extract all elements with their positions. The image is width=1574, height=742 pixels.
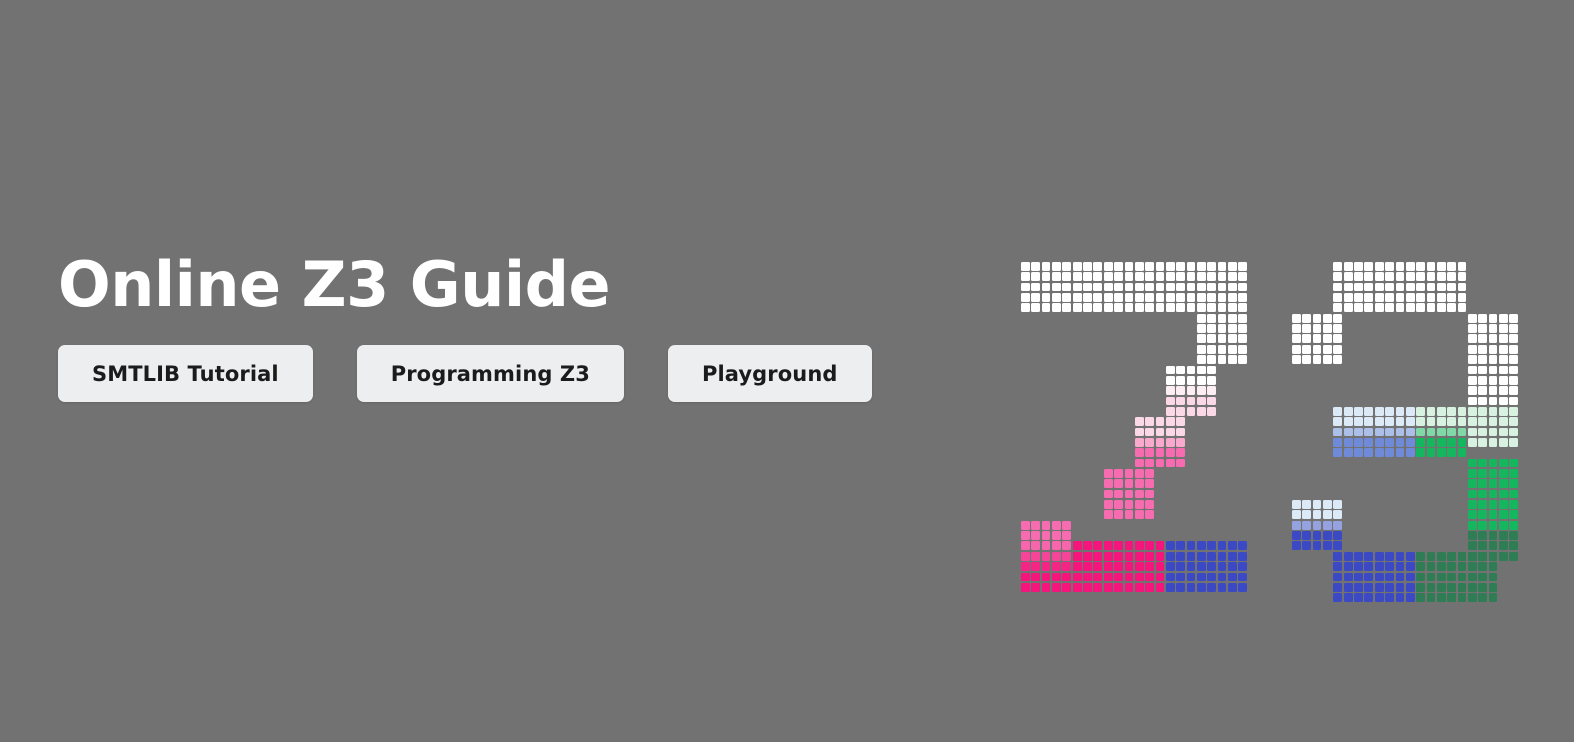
logo-pixel (1354, 583, 1363, 592)
logo-pixel (1478, 490, 1487, 499)
logo-pixel (1323, 314, 1332, 323)
logo-pixel (1499, 541, 1508, 550)
logo-pixel (1062, 303, 1071, 312)
logo-pixel (1499, 397, 1508, 406)
logo-pixel (1187, 272, 1196, 281)
logo-pixel (1156, 293, 1165, 302)
logo-pixel (1396, 438, 1405, 447)
logo-pixel (1478, 314, 1487, 323)
logo-pixel (1238, 314, 1247, 323)
logo-pixel (1416, 562, 1425, 571)
logo-pixel (1354, 407, 1363, 416)
logo-pixel (1135, 448, 1144, 457)
logo-pixel (1437, 438, 1446, 447)
logo-pixel (1478, 552, 1487, 561)
logo-pixel (1509, 386, 1518, 395)
logo-pixel (1313, 541, 1322, 550)
logo-pixel (1031, 262, 1040, 271)
logo-pixel (1031, 562, 1040, 571)
logo-pixel (1333, 541, 1342, 550)
logo-pixel (1509, 510, 1518, 519)
logo-pixel (1292, 345, 1301, 354)
logo-pixel (1187, 552, 1196, 561)
logo-pixel (1468, 386, 1477, 395)
logo-pixel (1354, 573, 1363, 582)
logo-pixel (1197, 355, 1206, 364)
logo-pixel (1313, 510, 1322, 519)
programming-z3-button[interactable]: Programming Z3 (357, 345, 624, 402)
logo-pixel (1292, 531, 1301, 540)
logo-pixel (1478, 386, 1487, 395)
logo-pixel (1228, 583, 1237, 592)
logo-pixel (1375, 552, 1384, 561)
logo-pixel (1375, 583, 1384, 592)
logo-pixel (1447, 262, 1456, 271)
logo-pixel (1073, 541, 1082, 550)
logo-pixel (1292, 314, 1301, 323)
logo-pixel (1478, 573, 1487, 582)
logo-pixel (1187, 583, 1196, 592)
logo-pixel (1104, 490, 1113, 499)
logo-pixel (1468, 562, 1477, 571)
logo-pixel (1135, 500, 1144, 509)
logo-pixel (1166, 459, 1175, 468)
logo-pixel (1437, 583, 1446, 592)
logo-pixel (1218, 562, 1227, 571)
logo-pixel (1021, 552, 1030, 561)
logo-pixel (1385, 293, 1394, 302)
logo-pixel (1427, 407, 1436, 416)
logo-pixel (1187, 262, 1196, 271)
logo-pixel (1333, 583, 1342, 592)
hero-section: Online Z3 Guide SMTLIB Tutorial Programm… (0, 0, 1574, 742)
logo-pixel (1499, 500, 1508, 509)
logo-pixel (1104, 552, 1113, 561)
logo-pixel (1406, 552, 1415, 561)
logo-pixel (1406, 583, 1415, 592)
logo-pixel (1021, 521, 1030, 530)
logo-pixel (1218, 334, 1227, 343)
logo-pixel (1478, 355, 1487, 364)
logo-pixel (1458, 417, 1467, 426)
logo-pixel (1207, 386, 1216, 395)
logo-pixel (1509, 397, 1518, 406)
logo-pixel (1228, 283, 1237, 292)
logo-pixel (1156, 303, 1165, 312)
logo-pixel (1468, 521, 1477, 530)
logo-pixel (1499, 479, 1508, 488)
logo-pixel (1156, 417, 1165, 426)
logo-pixel (1313, 314, 1322, 323)
logo-pixel (1499, 459, 1508, 468)
z3-pixel-logo (1021, 262, 1521, 587)
logo-pixel (1166, 583, 1175, 592)
logo-pixel (1509, 531, 1518, 540)
logo-pixel (1207, 314, 1216, 323)
logo-pixel (1333, 293, 1342, 302)
logo-pixel (1052, 293, 1061, 302)
logo-pixel (1468, 334, 1477, 343)
logo-pixel (1042, 573, 1051, 582)
logo-pixel (1083, 552, 1092, 561)
logo-pixel (1197, 293, 1206, 302)
logo-pixel (1333, 417, 1342, 426)
logo-pixel (1062, 293, 1071, 302)
logo-pixel (1073, 583, 1082, 592)
logo-pixel (1042, 583, 1051, 592)
logo-pixel (1406, 428, 1415, 437)
logo-pixel (1176, 448, 1185, 457)
logo-pixel (1478, 562, 1487, 571)
logo-pixel (1238, 262, 1247, 271)
logo-pixel (1333, 573, 1342, 582)
logo-pixel (1218, 573, 1227, 582)
logo-pixel (1062, 521, 1071, 530)
logo-pixel (1166, 366, 1175, 375)
logo-pixel (1478, 459, 1487, 468)
logo-pixel (1228, 293, 1237, 302)
logo-pixel (1416, 438, 1425, 447)
logo-pixel (1509, 490, 1518, 499)
logo-pixel (1344, 293, 1353, 302)
logo-pixel (1031, 272, 1040, 281)
logo-pixel (1083, 541, 1092, 550)
logo-pixel (1354, 448, 1363, 457)
logo-pixel (1406, 448, 1415, 457)
logo-pixel (1197, 562, 1206, 571)
logo-pixel (1489, 355, 1498, 364)
logo-pixel (1125, 303, 1134, 312)
logo-pixel (1238, 541, 1247, 550)
logo-pixel (1427, 428, 1436, 437)
logo-pixel (1489, 334, 1498, 343)
logo-pixel (1468, 500, 1477, 509)
logo-pixel (1509, 376, 1518, 385)
logo-pixel (1385, 593, 1394, 602)
logo-pixel (1396, 407, 1405, 416)
logo-pixel (1478, 531, 1487, 540)
logo-pixel (1042, 521, 1051, 530)
logo-pixel (1228, 541, 1237, 550)
logo-pixel (1478, 541, 1487, 550)
logo-pixel (1197, 552, 1206, 561)
logo-pixel (1093, 573, 1102, 582)
logo-pixel (1207, 562, 1216, 571)
logo-pixel (1489, 521, 1498, 530)
logo-pixel (1104, 541, 1113, 550)
logo-pixel (1073, 562, 1082, 571)
logo-pixel (1333, 324, 1342, 333)
logo-pixel (1031, 293, 1040, 302)
logo-pixel (1478, 428, 1487, 437)
logo-pixel (1042, 272, 1051, 281)
logo-pixel (1375, 593, 1384, 602)
logo-pixel (1114, 479, 1123, 488)
logo-pixel (1344, 283, 1353, 292)
logo-pixel (1437, 303, 1446, 312)
logo-pixel (1207, 376, 1216, 385)
logo-pixel (1427, 293, 1436, 302)
logo-pixel (1499, 531, 1508, 540)
logo-pixel (1375, 562, 1384, 571)
logo-pixel (1478, 500, 1487, 509)
logo-pixel (1218, 314, 1227, 323)
logo-pixel (1156, 541, 1165, 550)
logo-pixel (1021, 262, 1030, 271)
logo-pixel (1489, 345, 1498, 354)
logo-pixel (1396, 573, 1405, 582)
logo-pixel (1093, 562, 1102, 571)
logo-pixel (1176, 366, 1185, 375)
logo-pixel (1323, 345, 1332, 354)
logo-pixel (1197, 262, 1206, 271)
logo-pixel (1062, 562, 1071, 571)
logo-pixel (1364, 417, 1373, 426)
logo-pixel (1062, 583, 1071, 592)
logo-pixel (1083, 583, 1092, 592)
logo-pixel (1375, 272, 1384, 281)
logo-pixel (1333, 500, 1342, 509)
logo-pixel (1509, 334, 1518, 343)
logo-pixel (1406, 262, 1415, 271)
logo-pixel (1509, 417, 1518, 426)
logo-pixel (1166, 283, 1175, 292)
logo-pixel (1406, 593, 1415, 602)
logo-pixel (1364, 448, 1373, 457)
logo-pixel (1187, 386, 1196, 395)
logo-pixel (1437, 293, 1446, 302)
logo-pixel (1364, 283, 1373, 292)
logo-pixel (1292, 541, 1301, 550)
logo-pixel (1447, 438, 1456, 447)
logo-pixel (1145, 583, 1154, 592)
logo-pixel (1478, 324, 1487, 333)
logo-pixel (1292, 324, 1301, 333)
logo-pixel (1228, 324, 1237, 333)
logo-pixel (1031, 531, 1040, 540)
logo-pixel (1156, 573, 1165, 582)
logo-pixel (1042, 303, 1051, 312)
logo-pixel (1166, 293, 1175, 302)
logo-pixel (1489, 573, 1498, 582)
logo-pixel (1333, 562, 1342, 571)
logo-pixel (1093, 583, 1102, 592)
logo-pixel (1042, 283, 1051, 292)
logo-pixel (1176, 407, 1185, 416)
logo-pixel (1375, 428, 1384, 437)
logo-pixel (1333, 510, 1342, 519)
logo-pixel (1406, 303, 1415, 312)
logo-pixel (1447, 283, 1456, 292)
logo-pixel (1509, 438, 1518, 447)
logo-pixel (1228, 562, 1237, 571)
hero-button-group: SMTLIB Tutorial Programming Z3 Playgroun… (58, 345, 958, 402)
logo-pixel (1344, 417, 1353, 426)
logo-pixel (1344, 303, 1353, 312)
logo-pixel (1176, 386, 1185, 395)
logo-pixel (1364, 552, 1373, 561)
logo-pixel (1489, 593, 1498, 602)
logo-pixel (1292, 334, 1301, 343)
logo-pixel (1302, 541, 1311, 550)
logo-pixel (1313, 334, 1322, 343)
logo-pixel (1166, 303, 1175, 312)
logo-pixel (1166, 562, 1175, 571)
logo-pixel (1375, 417, 1384, 426)
logo-pixel (1406, 272, 1415, 281)
logo-pixel (1238, 345, 1247, 354)
logo-pixel (1333, 283, 1342, 292)
logo-pixel (1416, 262, 1425, 271)
logo-pixel (1509, 355, 1518, 364)
logo-pixel (1489, 469, 1498, 478)
logo-pixel (1207, 334, 1216, 343)
logo-pixel (1207, 283, 1216, 292)
logo-pixel (1385, 573, 1394, 582)
logo-pixel (1499, 510, 1508, 519)
logo-pixel (1125, 262, 1134, 271)
playground-button[interactable]: Playground (668, 345, 872, 402)
logo-pixel (1135, 541, 1144, 550)
logo-pixel (1104, 479, 1113, 488)
logo-pixel (1135, 510, 1144, 519)
logo-pixel (1302, 345, 1311, 354)
logo-pixel (1176, 397, 1185, 406)
logo-pixel (1458, 262, 1467, 271)
logo-pixel (1083, 303, 1092, 312)
logo-pixel (1396, 283, 1405, 292)
logo-pixel (1396, 417, 1405, 426)
logo-pixel (1228, 262, 1237, 271)
logo-pixel (1333, 407, 1342, 416)
logo-pixel (1031, 583, 1040, 592)
logo-pixel (1489, 479, 1498, 488)
logo-pixel (1468, 366, 1477, 375)
logo-pixel (1228, 345, 1237, 354)
logo-pixel (1292, 521, 1301, 530)
logo-pixel (1499, 521, 1508, 530)
logo-pixel (1062, 573, 1071, 582)
logo-pixel (1125, 510, 1134, 519)
logo-pixel (1052, 521, 1061, 530)
logo-pixel (1458, 562, 1467, 571)
logo-pixel (1458, 428, 1467, 437)
logo-pixel (1354, 293, 1363, 302)
logo-pixel (1104, 510, 1113, 519)
logo-pixel (1468, 397, 1477, 406)
logo-pixel (1125, 293, 1134, 302)
logo-pixel (1166, 541, 1175, 550)
logo-pixel (1145, 417, 1154, 426)
logo-pixel (1458, 293, 1467, 302)
logo-pixel (1385, 407, 1394, 416)
logo-pixel (1187, 376, 1196, 385)
logo-pixel (1385, 262, 1394, 271)
logo-pixel (1354, 417, 1363, 426)
logo-pixel (1207, 262, 1216, 271)
logo-pixel (1499, 345, 1508, 354)
logo-pixel (1145, 262, 1154, 271)
logo-pixel (1042, 293, 1051, 302)
logo-pixel (1218, 293, 1227, 302)
logo-pixel (1406, 438, 1415, 447)
logo-pixel (1333, 428, 1342, 437)
logo-pixel (1093, 541, 1102, 550)
logo-pixel (1031, 303, 1040, 312)
logo-pixel (1218, 303, 1227, 312)
logo-pixel (1478, 376, 1487, 385)
logo-pixel (1354, 552, 1363, 561)
logo-pixel (1468, 417, 1477, 426)
logo-pixel (1354, 438, 1363, 447)
logo-pixel (1385, 283, 1394, 292)
logo-pixel (1197, 407, 1206, 416)
logo-pixel (1228, 573, 1237, 582)
logo-pixel (1416, 593, 1425, 602)
logo-pixel (1509, 521, 1518, 530)
logo-pixel (1218, 583, 1227, 592)
logo-pixel (1364, 573, 1373, 582)
logo-pixel (1396, 593, 1405, 602)
smtlib-tutorial-button[interactable]: SMTLIB Tutorial (58, 345, 313, 402)
logo-pixel (1509, 407, 1518, 416)
logo-pixel (1333, 355, 1342, 364)
logo-pixel (1437, 562, 1446, 571)
logo-pixel (1313, 324, 1322, 333)
logo-pixel (1478, 438, 1487, 447)
logo-pixel (1437, 283, 1446, 292)
logo-pixel (1166, 407, 1175, 416)
logo-pixel (1176, 283, 1185, 292)
logo-pixel (1427, 272, 1436, 281)
logo-pixel (1447, 583, 1456, 592)
logo-pixel (1156, 552, 1165, 561)
logo-pixel (1135, 479, 1144, 488)
logo-pixel (1509, 479, 1518, 488)
logo-pixel (1468, 583, 1477, 592)
logo-pixel (1333, 262, 1342, 271)
logo-pixel (1364, 438, 1373, 447)
logo-pixel (1156, 272, 1165, 281)
logo-pixel (1385, 448, 1394, 457)
logo-pixel (1104, 573, 1113, 582)
logo-pixel (1509, 324, 1518, 333)
logo-pixel (1313, 345, 1322, 354)
logo-pixel (1135, 272, 1144, 281)
logo-pixel (1156, 428, 1165, 437)
logo-pixel (1176, 573, 1185, 582)
logo-pixel (1344, 583, 1353, 592)
logo-pixel (1396, 552, 1405, 561)
logo-pixel (1489, 500, 1498, 509)
logo-pixel (1406, 573, 1415, 582)
logo-pixel (1333, 531, 1342, 540)
logo-pixel (1156, 459, 1165, 468)
logo-pixel (1406, 417, 1415, 426)
logo-pixel (1218, 262, 1227, 271)
logo-pixel (1104, 303, 1113, 312)
logo-pixel (1468, 376, 1477, 385)
logo-pixel (1052, 303, 1061, 312)
logo-pixel (1458, 573, 1467, 582)
logo-pixel (1344, 438, 1353, 447)
logo-pixel (1145, 490, 1154, 499)
logo-pixel (1238, 355, 1247, 364)
logo-pixel (1114, 272, 1123, 281)
logo-pixel (1156, 448, 1165, 457)
logo-pixel (1499, 417, 1508, 426)
logo-pixel (1447, 593, 1456, 602)
